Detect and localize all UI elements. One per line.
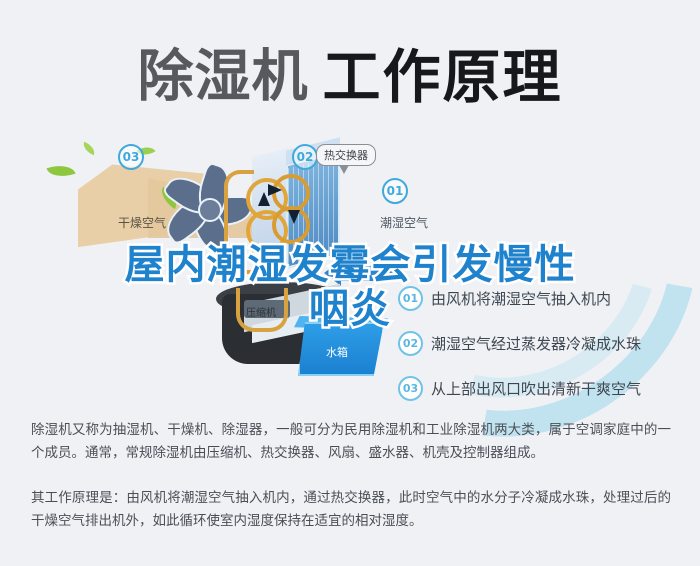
overlay-headline: 屋内潮湿发霉会引发慢性 咽炎 xyxy=(0,243,700,331)
title-part-product: 除湿机 xyxy=(137,45,308,110)
step-badge: 02 xyxy=(398,331,423,356)
heat-exchanger-callout: 热交换器 xyxy=(316,144,376,166)
step-text: 从上部出风口吹出清新干爽空气 xyxy=(431,378,641,399)
list-item: 02 潮湿空气经过蒸发器冷凝成水珠 xyxy=(398,331,688,356)
humid-air-badge: 01 xyxy=(382,178,408,204)
humid-air-label: 潮湿空气 xyxy=(380,214,428,231)
dry-air-label: 干燥空气 xyxy=(118,214,166,231)
leaf-icon xyxy=(46,160,75,181)
overlay-headline-line2: 咽炎 xyxy=(0,287,700,331)
step-text: 潮湿空气经过蒸发器冷凝成水珠 xyxy=(431,333,641,354)
body-paragraph-1: 除湿机又称为抽湿机、干燥机、除湿器，一般可分为民用除湿机和工业除湿机两大类，属于… xyxy=(31,419,671,465)
step-badge: 03 xyxy=(398,376,423,401)
leaf-icon xyxy=(81,142,97,156)
flow-arrow-right-icon xyxy=(268,184,282,196)
dry-air-badge: 03 xyxy=(118,144,144,170)
body-copy: 除湿机又称为抽湿机、干燥机、除湿器，一般可分为民用除湿机和工业除湿机两大类，属于… xyxy=(31,419,671,555)
water-tank-label: 水箱 xyxy=(326,344,348,360)
page-title: 除湿机工作原理 xyxy=(0,30,700,114)
heat-exchanger-badge: 02 xyxy=(292,144,318,170)
body-paragraph-2: 其工作原理是：由风机将潮湿空气抽入机内，通过热交换器，此时空气中的水分子冷凝成水… xyxy=(31,487,671,533)
flow-arrow-down-icon xyxy=(288,210,300,224)
title-part-principle: 工作原理 xyxy=(322,43,562,111)
overlay-headline-line1: 屋内潮湿发霉会引发慢性 xyxy=(0,243,700,287)
infographic-page: 除湿机工作原理 03 干燥空气 xyxy=(0,0,700,566)
list-item: 03 从上部出风口吹出清新干爽空气 xyxy=(398,376,688,401)
